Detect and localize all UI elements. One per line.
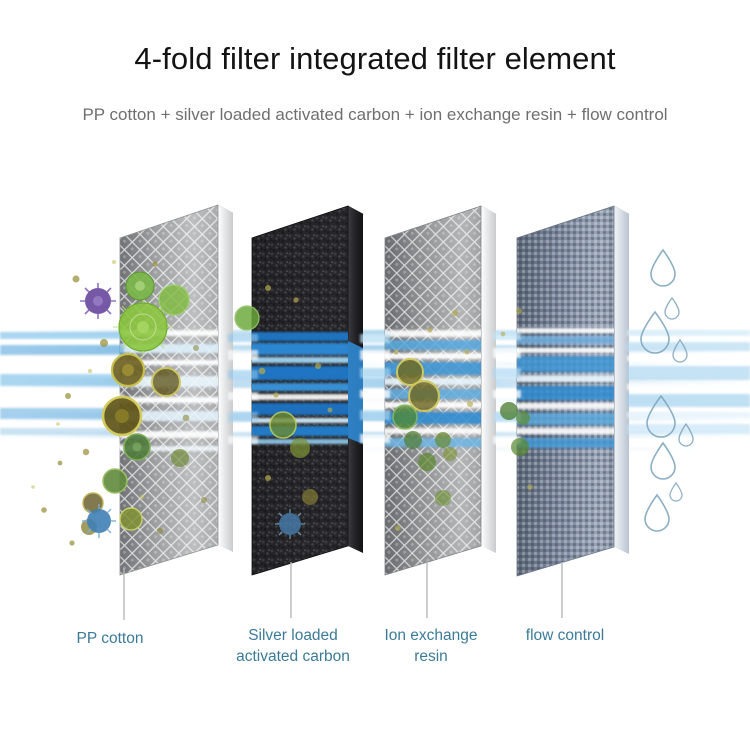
layer-label-pp-cotton: PP cotton [40, 628, 180, 649]
layer-label-group: PP cotton Silver loaded activated carbon… [0, 0, 750, 750]
layer-label-activated-carbon: Silver loaded activated carbon [218, 625, 368, 667]
layer-label-flow-control: flow control [500, 625, 630, 646]
layer-label-ion-exchange-resin: Ion exchange resin [366, 625, 496, 667]
infographic-canvas: 4-fold filter integrated filter element … [0, 0, 750, 750]
